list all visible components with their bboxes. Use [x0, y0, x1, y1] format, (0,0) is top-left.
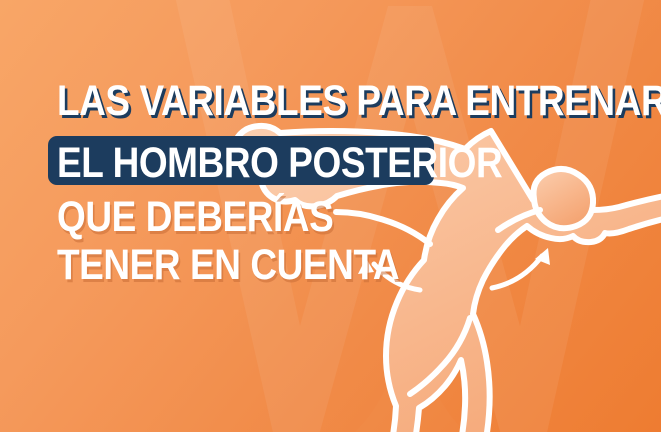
exercise-illustration: [0, 0, 661, 432]
figure-body: [233, 126, 661, 432]
poster-canvas: LAS VARIABLES PARA ENTRENAR EL HOMBRO PO…: [0, 0, 661, 432]
